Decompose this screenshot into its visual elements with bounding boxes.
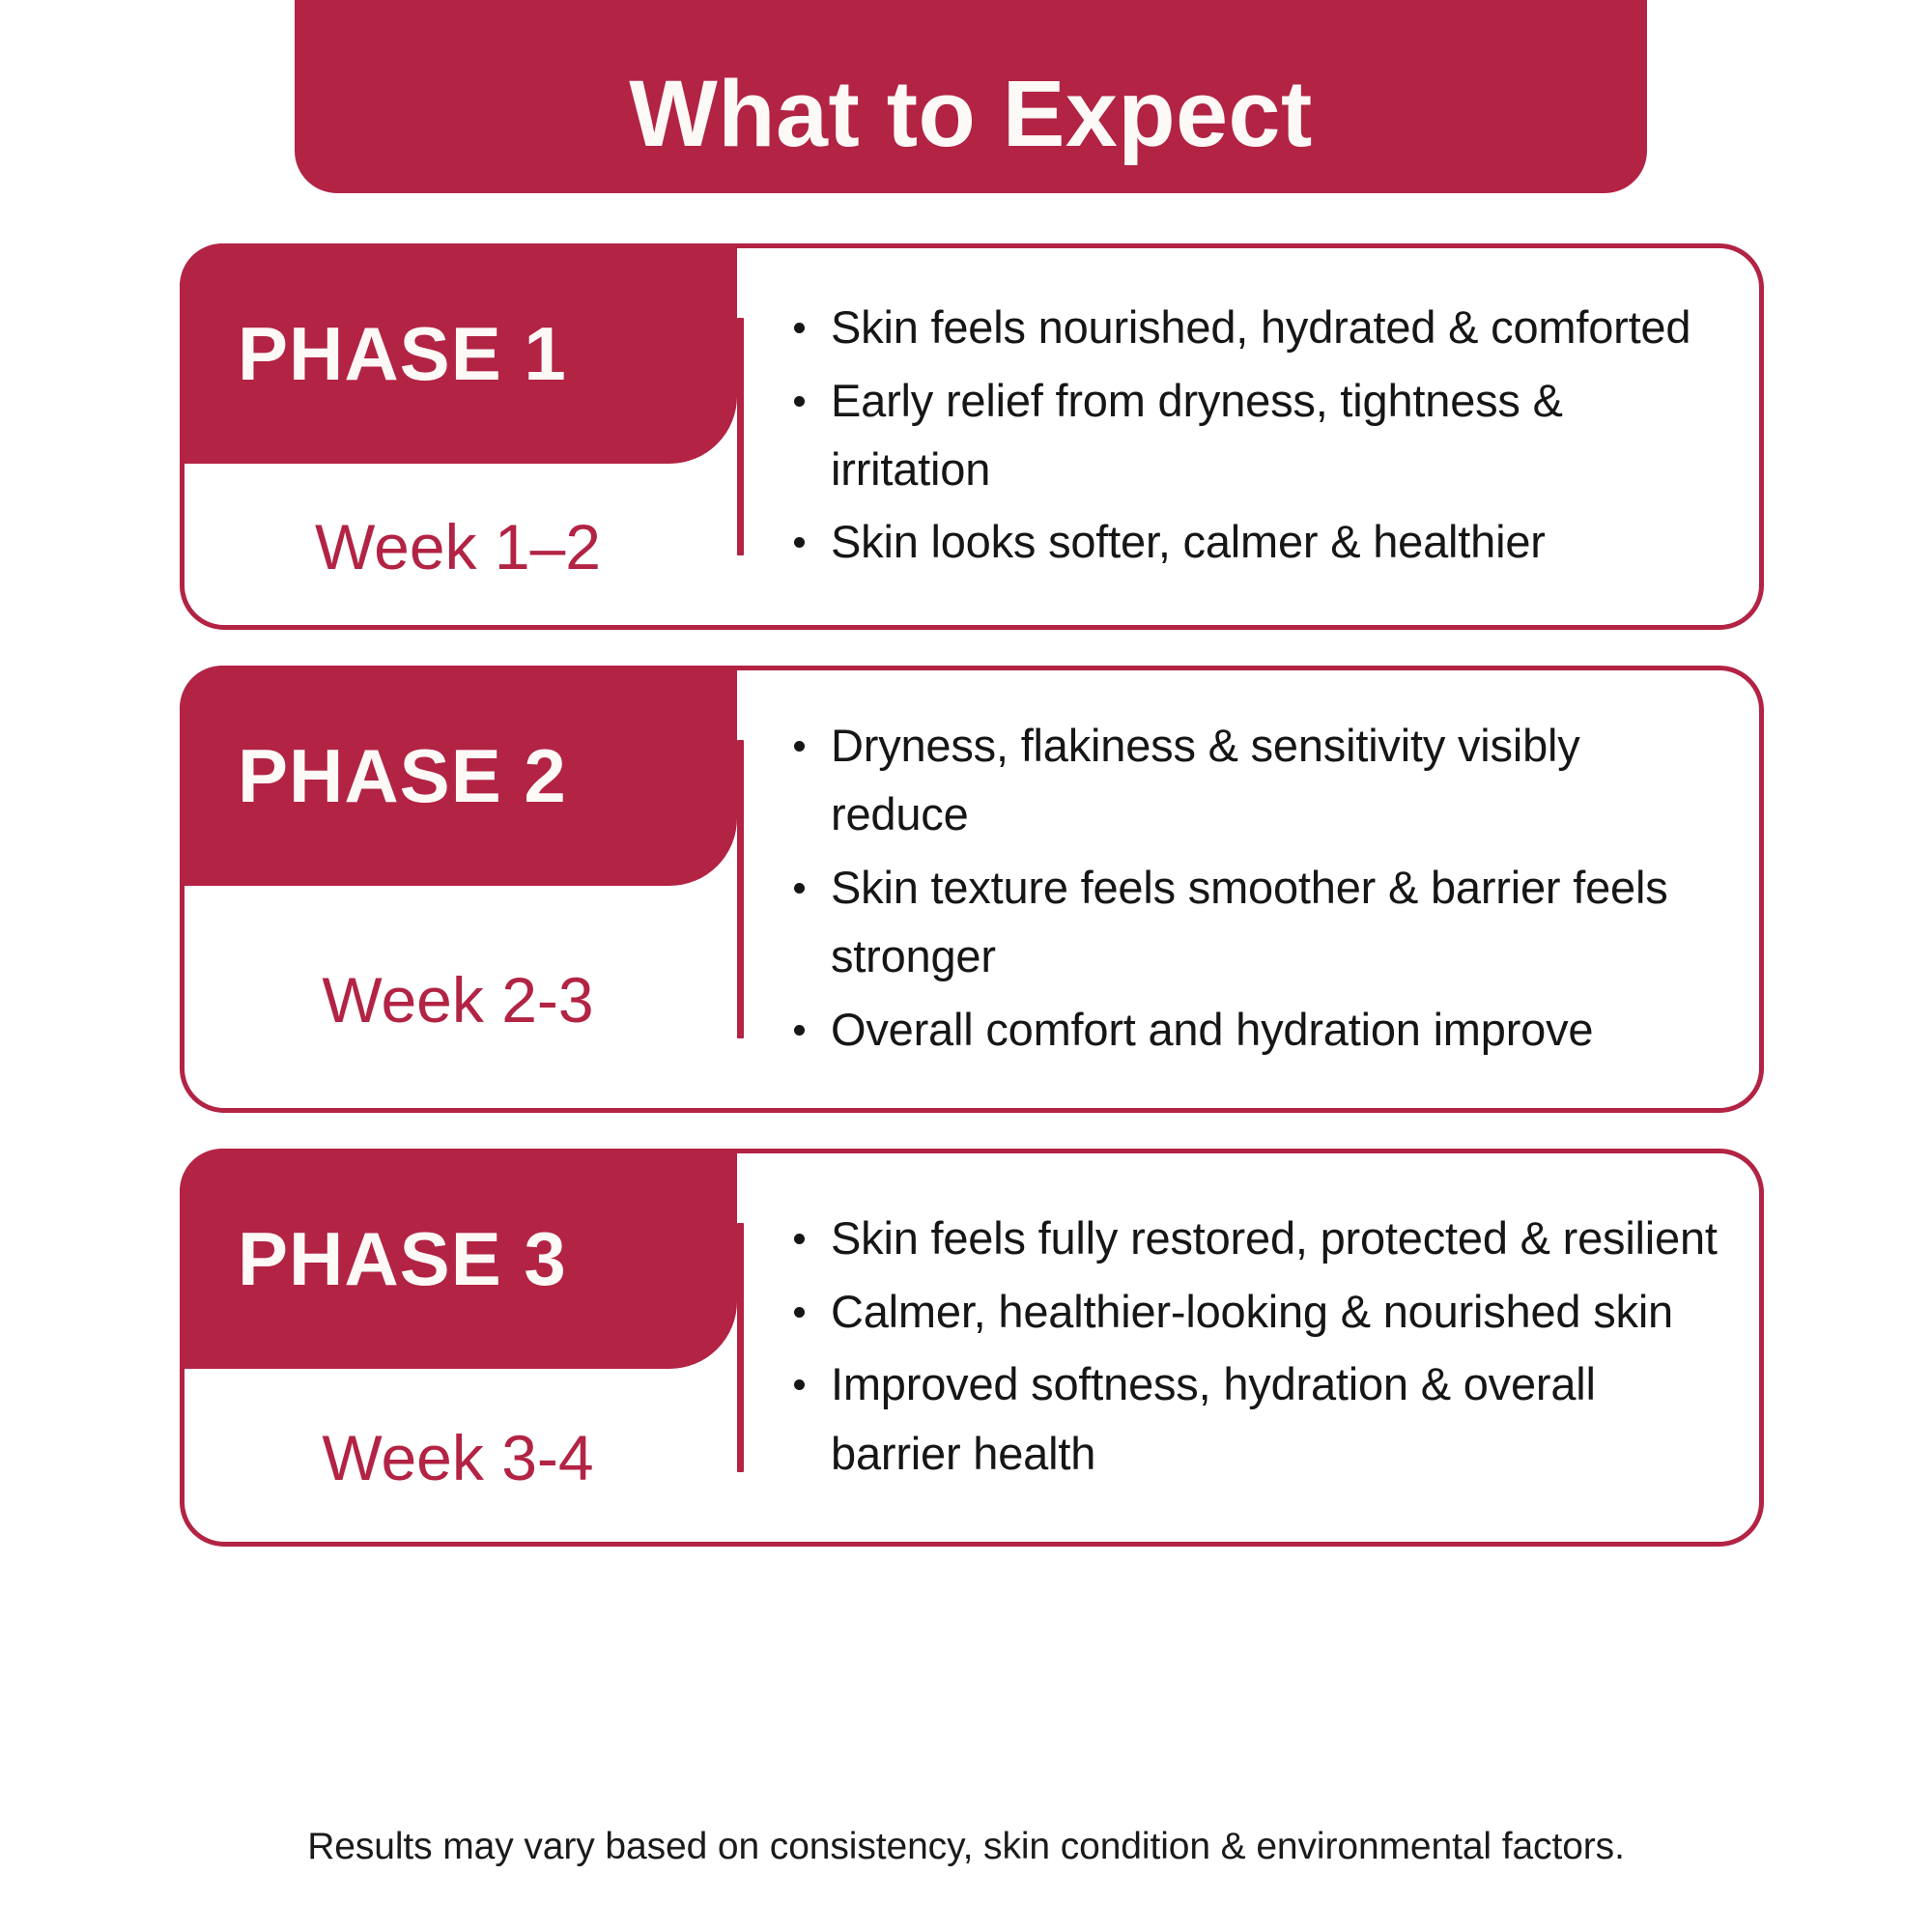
phase-badge: PHASE 3	[180, 1149, 737, 1369]
phase-week-label: Week 3-4	[185, 1374, 737, 1542]
vertical-divider	[737, 1223, 744, 1472]
phase-badge: PHASE 1	[180, 243, 737, 464]
phase-card-left: PHASE 2 Week 2-3	[185, 670, 737, 1108]
list-item: Dryness, flakiness & sensitivity visibly…	[786, 711, 1726, 849]
list-item: Improved softness, hydration & overall b…	[786, 1350, 1726, 1488]
phase-week-text: Week 1–2	[315, 515, 601, 579]
phase-week-label: Week 1–2	[185, 469, 737, 625]
list-item: Skin feels fully restored, protected & r…	[786, 1204, 1726, 1272]
phase-card-right: Dryness, flakiness & sensitivity visibly…	[737, 670, 1759, 1108]
phase-card: PHASE 2 Week 2-3 Dryness, flakiness & se…	[180, 666, 1764, 1113]
list-item: Skin texture feels smoother & barrier fe…	[786, 853, 1726, 991]
phase-card: PHASE 1 Week 1–2 Skin feels nourished, h…	[180, 243, 1764, 630]
list-item: Skin feels nourished, hydrated & comfort…	[786, 293, 1726, 361]
vertical-divider	[737, 318, 744, 555]
phase-card-right: Skin feels nourished, hydrated & comfort…	[737, 248, 1759, 625]
header-banner: What to Expect	[295, 0, 1647, 193]
disclaimer-text: Results may vary based on consistency, s…	[307, 1826, 1625, 1867]
phase-card: PHASE 3 Week 3-4 Skin feels fully restor…	[180, 1149, 1764, 1547]
phase-badge: PHASE 2	[180, 666, 737, 886]
phase-card-left: PHASE 3 Week 3-4	[185, 1153, 737, 1542]
phase-card-left: PHASE 1 Week 1–2	[185, 248, 737, 625]
vertical-divider	[737, 740, 744, 1038]
list-item: Early relief from dryness, tightness & i…	[786, 366, 1726, 504]
list-item: Skin looks softer, calmer & healthier	[786, 507, 1726, 576]
phase-badge-label: PHASE 2	[238, 738, 567, 813]
list-item: Calmer, healthier-looking & nourished sk…	[786, 1277, 1726, 1346]
phase-week-label: Week 2-3	[185, 891, 737, 1108]
infographic-page: What to Expect PHASE 1 Week 1–2 Skin fee…	[0, 0, 1932, 1932]
phase-bullet-list: Skin feels fully restored, protected & r…	[786, 1204, 1726, 1492]
phase-week-text: Week 2-3	[322, 968, 593, 1032]
phase-badge-label: PHASE 3	[238, 1221, 567, 1296]
phase-week-text: Week 3-4	[322, 1426, 593, 1490]
phase-badge-label: PHASE 1	[238, 316, 567, 391]
page-title: What to Expect	[629, 67, 1313, 160]
phase-card-list: PHASE 1 Week 1–2 Skin feels nourished, h…	[180, 243, 1764, 1582]
phase-card-right: Skin feels fully restored, protected & r…	[737, 1153, 1759, 1542]
phase-bullet-list: Dryness, flakiness & sensitivity visibly…	[786, 711, 1726, 1067]
list-item: Overall comfort and hydration improve	[786, 995, 1726, 1064]
footer: Results may vary based on consistency, s…	[0, 1826, 1932, 1868]
phase-bullet-list: Skin feels nourished, hydrated & comfort…	[786, 293, 1726, 581]
